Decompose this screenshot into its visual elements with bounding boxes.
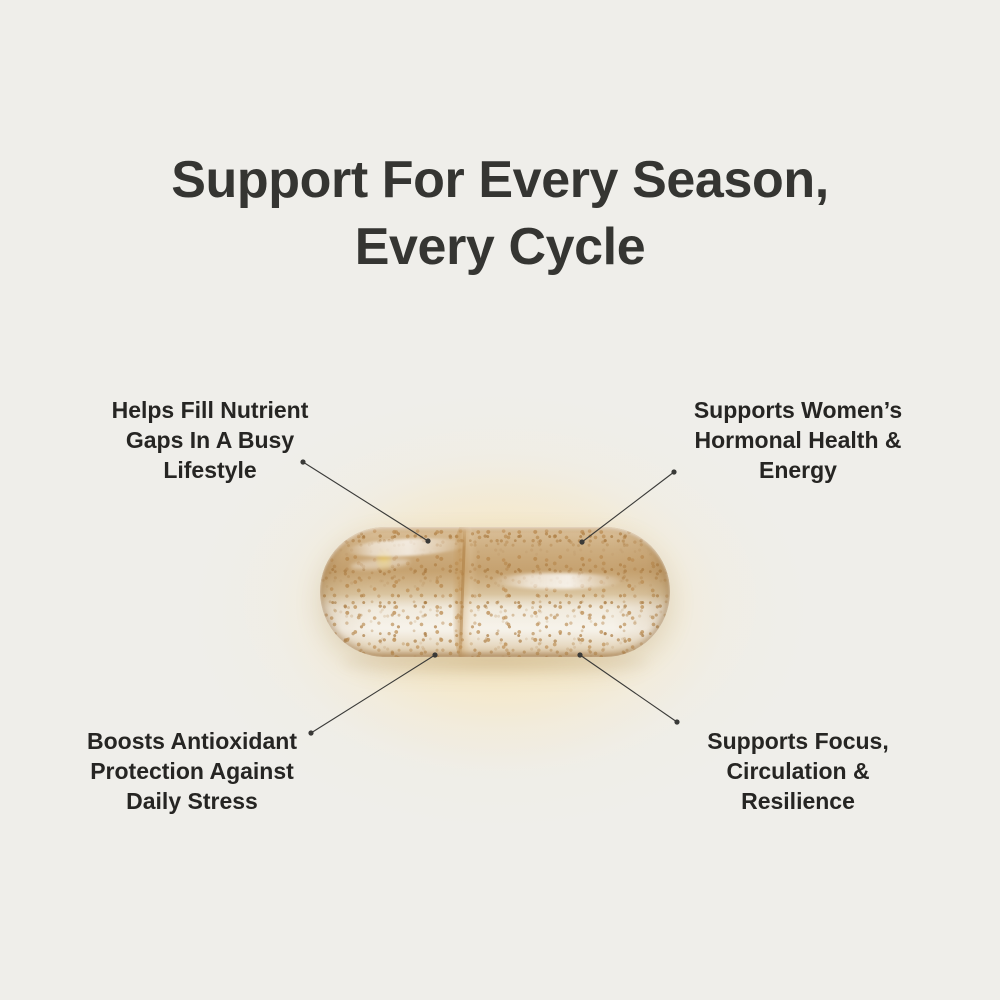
- callout-bottom-right: Supports Focus, Circulation & Resilience: [648, 727, 948, 817]
- callout-top-left: Helps Fill Nutrient Gaps In A Busy Lifes…: [60, 396, 360, 486]
- page-title: Support For Every Season, Every Cycle: [0, 147, 1000, 282]
- callout-bottom-left: Boosts Antioxidant Protection Against Da…: [42, 727, 342, 817]
- callout-top-right: Supports Women’s Hormonal Health & Energ…: [648, 396, 948, 486]
- leader-dot-bottom-right-start: [674, 719, 679, 724]
- product-benefits-infographic: Support For Every Season, Every Cycle He…: [0, 0, 1000, 1000]
- capsule-image: [320, 527, 670, 657]
- capsule-rim: [320, 527, 670, 657]
- capsule-shell: [320, 527, 670, 657]
